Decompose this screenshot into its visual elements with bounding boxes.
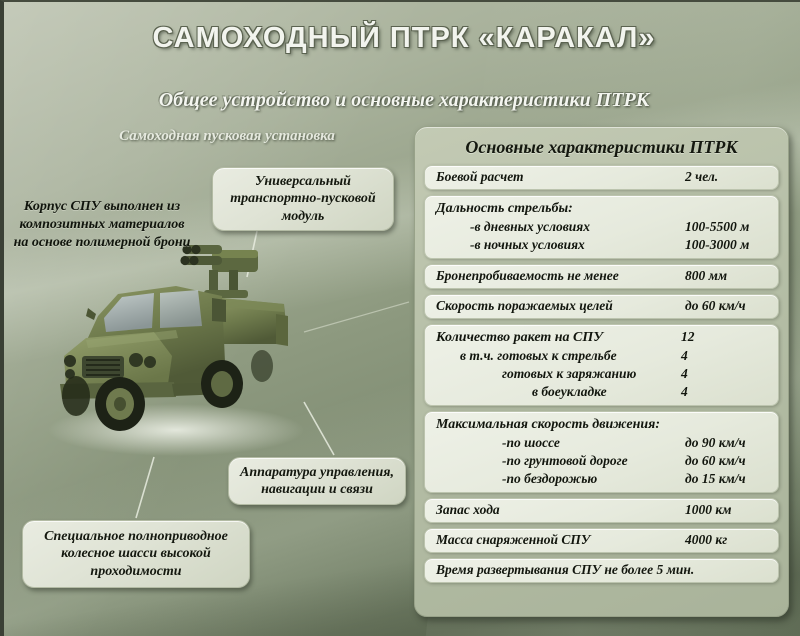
spec-row-missiles[interactable]: Количество ракет на СПУ12в т.ч. готовых … (424, 324, 779, 406)
callout-chassis[interactable]: Специальное полноприводное колесное шасс… (22, 520, 250, 588)
spec-value: 2 чел. (685, 169, 767, 185)
callout-control-apparatus[interactable]: Аппаратура управления, навигации и связи (228, 457, 406, 505)
spec-panel: Основные характеристики ПТРК Боевой расч… (414, 126, 789, 617)
callout-chassis-label: Специальное полноприводное колесное шасс… (31, 528, 241, 579)
spec-value: 4000 кг (685, 532, 767, 548)
spec-line: готовых к заряжанию4 (436, 366, 767, 382)
spec-value: 4 (681, 384, 767, 400)
spec-value: до 60 км/ч (685, 453, 767, 469)
spec-line: Время развертывания СПУ не более 5 мин. (436, 562, 767, 578)
spec-label: -в ночных условиях (436, 237, 585, 253)
callout-body-armor: Корпус СПУ выполнен из композитных матер… (12, 198, 192, 252)
spec-value: 4 (681, 348, 767, 364)
callout-launch-module-label: Универсальный транспортно-пусковой модул… (221, 173, 385, 224)
spec-value: 4 (681, 366, 767, 382)
vehicle-illustration (26, 234, 326, 462)
spec-value: до 15 км/ч (685, 471, 767, 487)
spec-line: Бронепробиваемость не менее800 мм (436, 268, 767, 284)
left-section-title: Самоходная пусковая установка (62, 128, 392, 145)
spec-line: Количество ракет на СПУ12 (436, 329, 767, 346)
spec-row-deploy-time[interactable]: Время развертывания СПУ не более 5 мин. (424, 558, 779, 583)
spec-value: 100-5500 м (685, 219, 767, 235)
spec-row-firing-range[interactable]: Дальность стрельбы:-в дневных условиях10… (424, 195, 779, 259)
spec-label: -по бездорожью (436, 471, 597, 487)
spec-label: Запас хода (436, 502, 500, 518)
spec-label: в т.ч. готовых к стрельбе (436, 348, 617, 364)
page-subtitle: Общее устройство и основные характеристи… (159, 89, 650, 112)
spec-label: Дальность стрельбы: (436, 201, 573, 217)
spec-value (704, 562, 786, 578)
spec-value (685, 200, 767, 216)
spec-value: до 90 км/ч (685, 435, 767, 451)
slide-root: САМОХОДНЫЙ ПТРК «КАРАКАЛ» Общее устройст… (0, 0, 800, 636)
spec-line: Скорость поражаемых целейдо 60 км/ч (436, 298, 767, 314)
header-band: САМОХОДНЫЙ ПТРК «КАРАКАЛ» (4, 10, 800, 66)
page-title: САМОХОДНЫЙ ПТРК «КАРАКАЛ» (152, 22, 655, 55)
spec-label: в боеукладке (436, 384, 607, 400)
spec-value (685, 416, 767, 432)
spec-row-mass[interactable]: Масса снаряженной СПУ4000 кг (424, 528, 779, 553)
spec-value: 800 мм (685, 268, 767, 284)
spec-row-max-speed[interactable]: Максимальная скорость движения:-по шоссе… (424, 411, 779, 493)
spec-value: 100-3000 м (685, 237, 767, 253)
spec-panel-title: Основные характеристики ПТРК (424, 133, 779, 165)
spec-value: 1000 км (685, 502, 767, 518)
spec-line: -по бездорожьюдо 15 км/ч (436, 471, 767, 487)
callout-launch-module[interactable]: Универсальный транспортно-пусковой модул… (212, 167, 394, 231)
spec-label: Максимальная скорость движения: (436, 417, 660, 433)
spec-row-penetration[interactable]: Бронепробиваемость не менее800 мм (424, 264, 779, 289)
spec-value: 12 (681, 329, 767, 345)
spec-line: -в дневных условиях100-5500 м (436, 219, 767, 235)
spec-label: Скорость поражаемых целей (436, 298, 613, 314)
spec-row-crew[interactable]: Боевой расчет2 чел. (424, 165, 779, 190)
subheader-band: Общее устройство и основные характеристи… (4, 84, 800, 116)
spec-label: -по шоссе (436, 435, 560, 451)
callout-control-apparatus-label: Аппаратура управления, навигации и связи (237, 464, 397, 498)
spec-line: Максимальная скорость движения: (436, 416, 767, 433)
spec-label: Время развертывания СПУ не более 5 мин. (436, 562, 694, 578)
spec-label: Количество ракет на СПУ (436, 330, 603, 346)
spec-label: Боевой расчет (436, 169, 524, 185)
spec-line: Боевой расчет2 чел. (436, 169, 767, 185)
spec-label: Бронепробиваемость не менее (436, 268, 619, 284)
spec-row-target-speed[interactable]: Скорость поражаемых целейдо 60 км/ч (424, 294, 779, 319)
grille (82, 356, 124, 378)
spec-line: -по грунтовой дорогедо 60 км/ч (436, 453, 767, 469)
spec-row-range[interactable]: Запас хода1000 км (424, 498, 779, 523)
spec-line: в боеукладке4 (436, 384, 767, 400)
spec-line: -в ночных условиях100-3000 м (436, 237, 767, 253)
spec-line: Дальность стрельбы: (436, 200, 767, 217)
spec-line: Масса снаряженной СПУ4000 кг (436, 532, 767, 548)
spec-line: в т.ч. готовых к стрельбе4 (436, 348, 767, 364)
spec-label: -по грунтовой дороге (436, 453, 628, 469)
spec-line: Запас хода1000 км (436, 502, 767, 518)
spec-value: до 60 км/ч (685, 298, 767, 314)
spec-rows-container: Боевой расчет2 чел.Дальность стрельбы:-в… (424, 165, 779, 583)
spec-label: готовых к заряжанию (436, 366, 636, 382)
spec-label: -в дневных условиях (436, 219, 590, 235)
spec-line: -по шосседо 90 км/ч (436, 435, 767, 451)
spec-label: Масса снаряженной СПУ (436, 532, 590, 548)
